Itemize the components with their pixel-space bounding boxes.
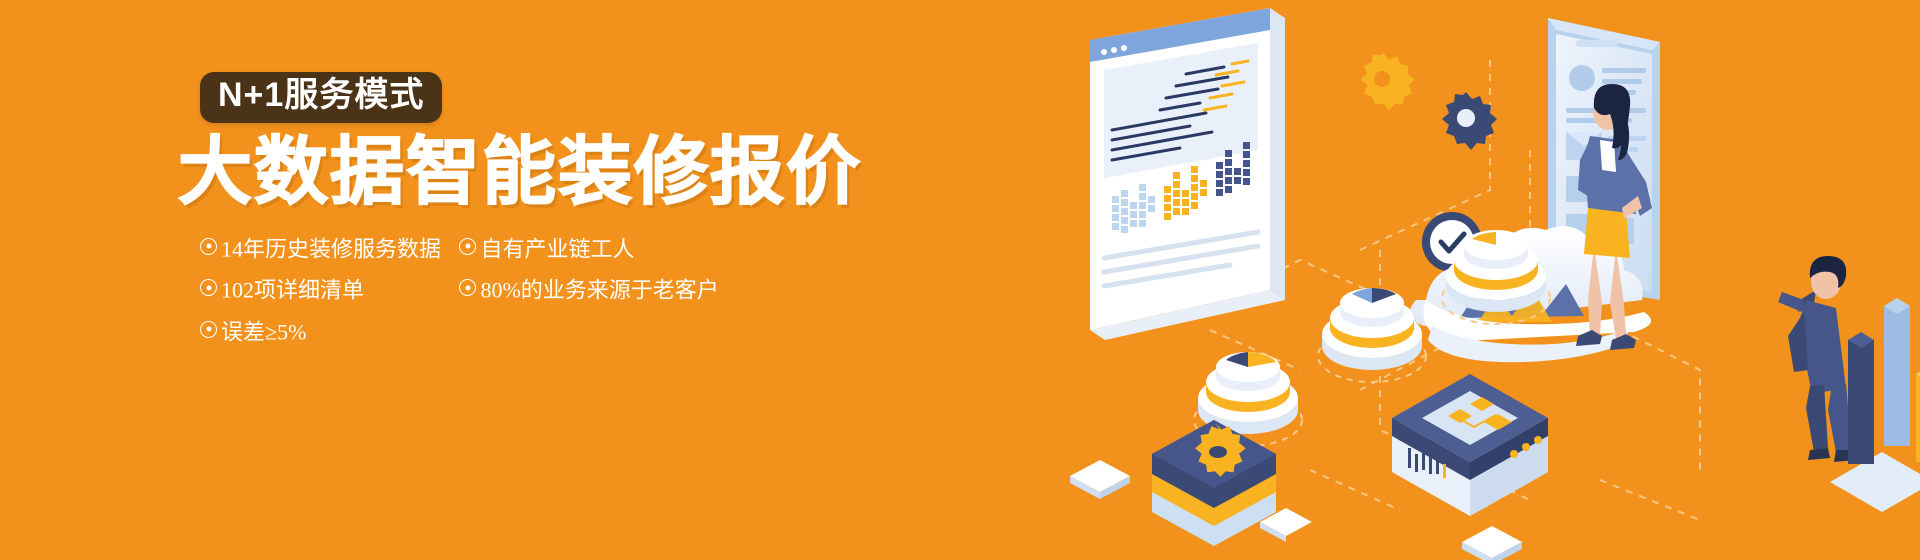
list-item: 80%的业务来源于老客户 xyxy=(459,268,789,309)
list-item: 误差≥5% xyxy=(200,310,455,351)
service-model-badge: N+1服务模式 xyxy=(200,72,442,123)
isometric-illustration xyxy=(1060,0,1920,560)
circled-dot-icon xyxy=(200,321,217,338)
list-item: 102项详细清单 xyxy=(200,268,455,309)
businessman-figure xyxy=(1778,256,1856,462)
list-item-label: 误差≥5% xyxy=(221,319,306,344)
circled-dot-icon xyxy=(200,279,217,296)
yellow-gear-icon xyxy=(1360,53,1414,111)
circled-dot-icon xyxy=(459,279,476,296)
page-title: 大数据智能装修报价 xyxy=(178,135,898,209)
browser-window-illustration xyxy=(1090,8,1285,340)
server-box-illustration xyxy=(1392,374,1548,516)
feature-column-left: 14年历史装修服务数据 102项详细清单 误差≥5% xyxy=(200,227,455,351)
gear-platform-illustration xyxy=(1152,420,1276,546)
hero-text-block: N+1服务模式 大数据智能装修报价 14年历史装修服务数据 102项详细清单 误… xyxy=(178,72,898,352)
feature-list: 14年历史装修服务数据 102项详细清单 误差≥5% 自有产业链工人 80%的业… xyxy=(178,227,838,351)
list-item-label: 102项详细清单 xyxy=(221,278,364,303)
list-item: 14年历史装修服务数据 xyxy=(200,227,455,268)
navy-gear-icon xyxy=(1442,92,1497,150)
promo-banner: N+1服务模式 大数据智能装修报价 14年历史装修服务数据 102项详细清单 误… xyxy=(0,0,1920,560)
circled-dot-icon xyxy=(459,238,476,255)
list-item-label: 14年历史装修服务数据 xyxy=(221,236,441,261)
list-item-label: 80%的业务来源于老客户 xyxy=(480,278,718,303)
list-item: 自有产业链工人 xyxy=(459,227,789,268)
circled-dot-icon xyxy=(200,238,217,255)
feature-column-right: 自有产业链工人 80%的业务来源于老客户 xyxy=(459,227,789,310)
list-item-label: 自有产业链工人 xyxy=(480,236,634,261)
